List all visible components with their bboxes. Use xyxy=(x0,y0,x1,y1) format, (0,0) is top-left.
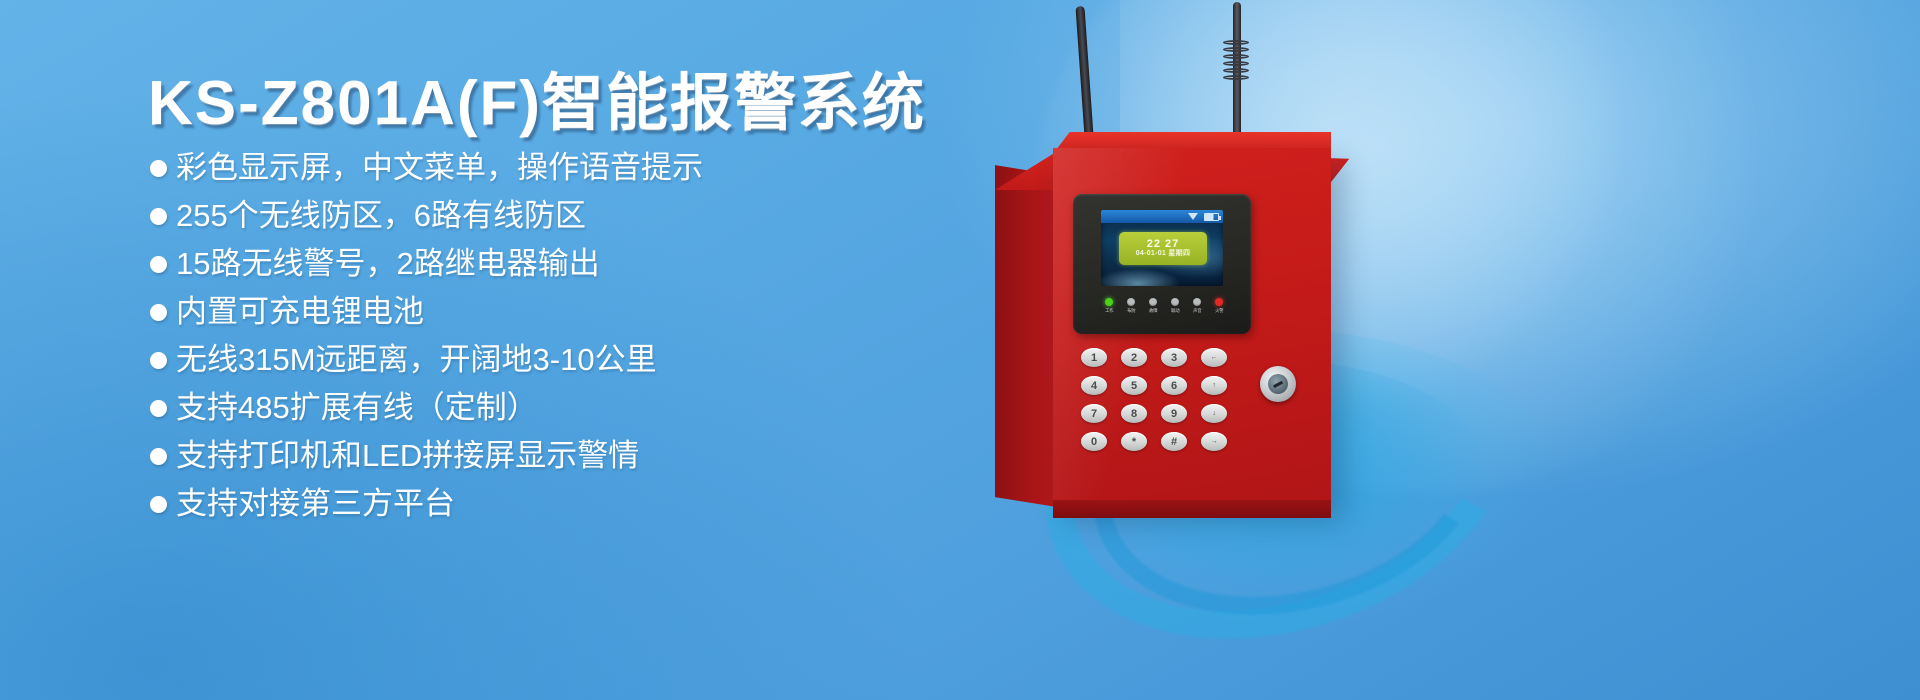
lcd-time: 22 27 xyxy=(1147,239,1180,251)
bullet-icon xyxy=(150,352,167,369)
feature-text: 15路无线警号，2路继电器输出 xyxy=(176,248,600,279)
keypad-key-2[interactable]: 2 xyxy=(1121,348,1147,367)
lcd-clock-panel: 22 27 04-01-01 星期四 xyxy=(1119,232,1207,265)
antenna-coil-windings xyxy=(1223,40,1249,82)
page-title: KS-Z801A(F)智能报警系统 xyxy=(148,52,926,142)
keypad-key-7[interactable]: 7 xyxy=(1081,404,1107,423)
keypad-key-up[interactable]: ↑ xyxy=(1201,376,1227,395)
led-indicator: 布防 xyxy=(1121,298,1141,314)
led-lamp-icon xyxy=(1193,298,1201,306)
feature-list: 彩色显示屏，中文菜单，操作语音提示 255个无线防区，6路有线防区 15路无线警… xyxy=(150,152,703,536)
led-label: 火警 xyxy=(1215,308,1223,314)
led-label: 声音 xyxy=(1193,308,1201,314)
keypad-key-4[interactable]: 4 xyxy=(1081,376,1107,395)
feature-text: 彩色显示屏，中文菜单，操作语音提示 xyxy=(176,152,703,183)
enclosure-bottom-edge xyxy=(1053,500,1331,518)
product-image-alarm-panel: 22 27 04-01-01 星期四 工作 布防 故障 xyxy=(955,0,1555,700)
signal-icon xyxy=(1188,213,1198,220)
led-indicator: 联动 xyxy=(1165,298,1185,314)
led-label: 工作 xyxy=(1105,308,1113,314)
bullet-icon xyxy=(150,496,167,513)
keypad-key-hash[interactable]: # xyxy=(1161,432,1187,451)
lcd-date: 04-01-01 星期四 xyxy=(1136,250,1191,258)
lcd-display: 22 27 04-01-01 星期四 xyxy=(1101,210,1223,286)
lcd-weekday: 星期四 xyxy=(1168,250,1190,257)
keypad-key-down[interactable]: ↓ xyxy=(1201,404,1227,423)
led-label: 联动 xyxy=(1171,308,1179,314)
feature-text: 支持打印机和LED拼接屏显示警情 xyxy=(176,440,639,471)
keypad-key-1[interactable]: 1 xyxy=(1081,348,1107,367)
faceplate: 22 27 04-01-01 星期四 工作 布防 故障 xyxy=(1073,194,1251,334)
keypad-key-enter[interactable]: → xyxy=(1201,432,1227,451)
bullet-icon xyxy=(150,400,167,417)
list-item: 支持打印机和LED拼接屏显示警情 xyxy=(150,440,703,471)
keypad-key-5[interactable]: 5 xyxy=(1121,376,1147,395)
bullet-icon xyxy=(150,208,167,225)
keypad-key-6[interactable]: 6 xyxy=(1161,376,1187,395)
led-indicator-row: 工作 布防 故障 联动 声音 火警 xyxy=(1099,298,1229,314)
bullet-icon xyxy=(150,448,167,465)
led-label: 故障 xyxy=(1149,308,1157,314)
list-item: 15路无线警号，2路继电器输出 xyxy=(150,248,703,279)
feature-text: 无线315M远距离，开阔地3-10公里 xyxy=(176,344,657,375)
led-indicator: 故障 xyxy=(1143,298,1163,314)
lcd-status-bar xyxy=(1101,210,1223,223)
enclosure-side-panel xyxy=(995,165,1057,507)
led-lamp-icon xyxy=(1215,298,1223,306)
list-item: 彩色显示屏，中文菜单，操作语音提示 xyxy=(150,152,703,183)
bullet-icon xyxy=(150,160,167,177)
feature-text: 255个无线防区，6路有线防区 xyxy=(176,200,586,231)
led-label: 布防 xyxy=(1127,308,1135,314)
feature-text: 内置可充电锂电池 xyxy=(176,296,424,327)
lock-core xyxy=(1268,374,1288,394)
bullet-icon xyxy=(150,304,167,321)
feature-text: 支持对接第三方平台 xyxy=(176,488,455,519)
list-item: 支持对接第三方平台 xyxy=(150,488,703,519)
led-indicator: 声音 xyxy=(1187,298,1207,314)
keypad[interactable]: 1 2 3 ← 4 5 6 ↑ 7 8 9 ↓ 0 * # → xyxy=(1081,348,1231,451)
list-item: 无线315M远距离，开阔地3-10公里 xyxy=(150,344,703,375)
keypad-key-back[interactable]: ← xyxy=(1201,348,1227,367)
led-indicator: 火警 xyxy=(1209,298,1229,314)
lock-keyway xyxy=(1273,381,1283,388)
led-indicator: 工作 xyxy=(1099,298,1119,314)
battery-icon xyxy=(1204,213,1219,221)
list-item: 255个无线防区，6路有线防区 xyxy=(150,200,703,231)
led-lamp-icon xyxy=(1149,298,1157,306)
lcd-date-value: 04-01-01 xyxy=(1136,250,1166,257)
led-lamp-icon xyxy=(1105,298,1113,306)
banner-content: KS-Z801A(F)智能报警系统 彩色显示屏，中文菜单，操作语音提示 255个… xyxy=(0,0,960,700)
bullet-icon xyxy=(150,256,167,273)
list-item: 支持485扩展有线（定制） xyxy=(150,392,703,423)
keypad-key-0[interactable]: 0 xyxy=(1081,432,1107,451)
keypad-key-star[interactable]: * xyxy=(1121,432,1147,451)
led-lamp-icon xyxy=(1171,298,1179,306)
lock-cylinder-icon[interactable] xyxy=(1260,366,1296,402)
feature-text: 支持485扩展有线（定制） xyxy=(176,392,538,423)
keypad-key-3[interactable]: 3 xyxy=(1161,348,1187,367)
list-item: 内置可充电锂电池 xyxy=(150,296,703,327)
keypad-key-9[interactable]: 9 xyxy=(1161,404,1187,423)
led-lamp-icon xyxy=(1127,298,1135,306)
keypad-key-8[interactable]: 8 xyxy=(1121,404,1147,423)
